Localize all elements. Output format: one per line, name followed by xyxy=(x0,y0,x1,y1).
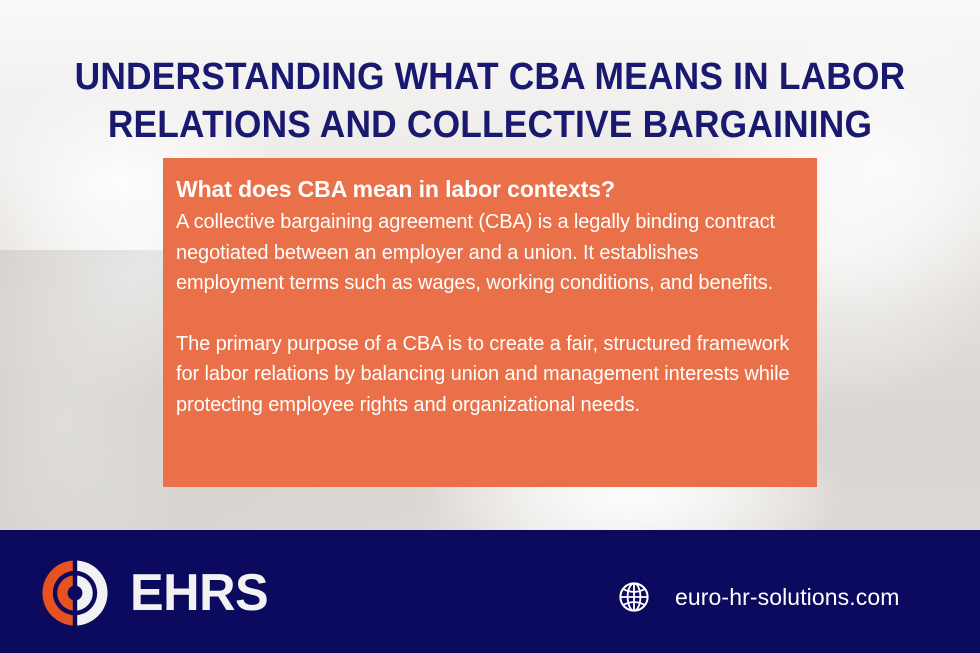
definition-card-heading: What does CBA mean in labor contexts? xyxy=(176,174,791,205)
infographic-canvas: UNDERSTANDING WHAT CBA MEANS IN LABOR RE… xyxy=(0,0,980,653)
page-title: UNDERSTANDING WHAT CBA MEANS IN LABOR RE… xyxy=(34,53,945,149)
ehrs-split-ring-logo-icon xyxy=(38,556,112,630)
brand-wordmark: EHRS xyxy=(130,567,268,619)
definition-card-paragraph-1: A collective bargaining agreement (CBA) … xyxy=(176,207,791,299)
footer-bar: EHRS euro-hr-solutions.com xyxy=(0,530,980,653)
brand-lockup: EHRS xyxy=(38,556,272,630)
website-lockup[interactable]: euro-hr-solutions.com xyxy=(617,580,900,614)
page-title-line-1: UNDERSTANDING WHAT CBA MEANS IN LABOR xyxy=(49,53,931,101)
definition-card-paragraph-2: The primary purpose of a CBA is to creat… xyxy=(176,329,791,421)
page-title-line-2: RELATIONS AND COLLECTIVE BARGAINING xyxy=(49,101,931,149)
definition-card: What does CBA mean in labor contexts? A … xyxy=(163,158,817,487)
globe-icon xyxy=(617,580,651,614)
website-url[interactable]: euro-hr-solutions.com xyxy=(675,584,900,610)
